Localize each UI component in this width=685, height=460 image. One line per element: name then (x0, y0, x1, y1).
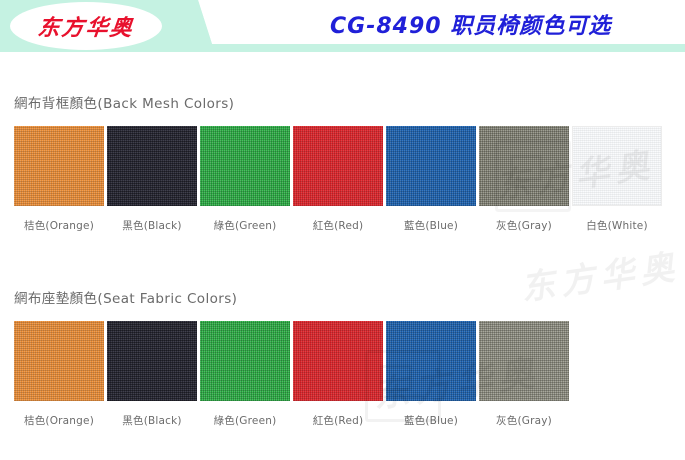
color-swatch-red[interactable] (293, 321, 383, 401)
logo-text: 东方华奥 (36, 10, 135, 42)
page-header: 东方华奥 CG-8490 职员椅颜色可选 (0, 0, 685, 60)
color-swatch-cell[interactable]: 綠色(Green) (200, 321, 290, 428)
color-swatch-orange[interactable] (14, 126, 104, 206)
color-swatch-cell[interactable]: 黑色(Black) (107, 126, 197, 233)
color-swatch-cell[interactable]: 藍色(Blue) (386, 321, 476, 428)
color-swatch-cell[interactable]: 紅色(Red) (293, 126, 383, 233)
swatch-row-seat-fabric: 桔色(Orange)黑色(Black)綠色(Green)紅色(Red)藍色(Bl… (14, 321, 685, 428)
color-swatch-black[interactable] (107, 126, 197, 206)
color-swatch-label: 藍色(Blue) (386, 413, 476, 428)
section-heading: 網布背框顏色(Back Mesh Colors) (14, 92, 685, 112)
color-swatch-red[interactable] (293, 126, 383, 206)
color-swatch-label: 紅色(Red) (293, 413, 383, 428)
color-swatch-cell[interactable]: 灰色(Gray) (479, 321, 569, 428)
color-swatch-cell[interactable]: 綠色(Green) (200, 126, 290, 233)
color-swatch-blue[interactable] (386, 321, 476, 401)
color-swatch-cell[interactable]: 紅色(Red) (293, 321, 383, 428)
logo: 东方华奥 (10, 2, 162, 50)
color-swatch-label: 灰色(Gray) (479, 413, 569, 428)
page-title: CG-8490 职员椅颜色可选 (330, 8, 611, 40)
color-swatch-gray[interactable] (479, 321, 569, 401)
color-swatch-orange[interactable] (14, 321, 104, 401)
color-swatch-cell[interactable]: 白色(White) (572, 126, 662, 233)
color-swatch-cell[interactable]: 灰色(Gray) (479, 126, 569, 233)
color-swatch-label: 綠色(Green) (200, 218, 290, 233)
color-swatch-cell[interactable]: 黑色(Black) (107, 321, 197, 428)
color-swatch-green[interactable] (200, 321, 290, 401)
color-swatch-cell[interactable]: 桔色(Orange) (14, 126, 104, 233)
color-swatch-label: 黑色(Black) (107, 218, 197, 233)
color-swatch-green[interactable] (200, 126, 290, 206)
color-swatch-label: 灰色(Gray) (479, 218, 569, 233)
section-heading: 網布座墊顏色(Seat Fabric Colors) (14, 287, 685, 307)
color-swatch-gray[interactable] (479, 126, 569, 206)
color-swatch-label: 藍色(Blue) (386, 218, 476, 233)
color-swatch-label: 紅色(Red) (293, 218, 383, 233)
color-swatch-label: 白色(White) (572, 218, 662, 233)
color-swatch-black[interactable] (107, 321, 197, 401)
color-swatch-cell[interactable]: 桔色(Orange) (14, 321, 104, 428)
section-seat-fabric-colors: 網布座墊顏色(Seat Fabric Colors) 桔色(Orange)黑色(… (0, 287, 685, 428)
swatch-row-back-mesh: 桔色(Orange)黑色(Black)綠色(Green)紅色(Red)藍色(Bl… (14, 126, 685, 233)
color-swatch-label: 黑色(Black) (107, 413, 197, 428)
section-back-mesh-colors: 網布背框顏色(Back Mesh Colors) 桔色(Orange)黑色(Bl… (0, 92, 685, 233)
color-swatch-label: 桔色(Orange) (14, 413, 104, 428)
color-swatch-label: 綠色(Green) (200, 413, 290, 428)
color-swatch-white[interactable] (572, 126, 662, 206)
color-swatch-label: 桔色(Orange) (14, 218, 104, 233)
color-swatch-blue[interactable] (386, 126, 476, 206)
color-swatch-cell[interactable]: 藍色(Blue) (386, 126, 476, 233)
